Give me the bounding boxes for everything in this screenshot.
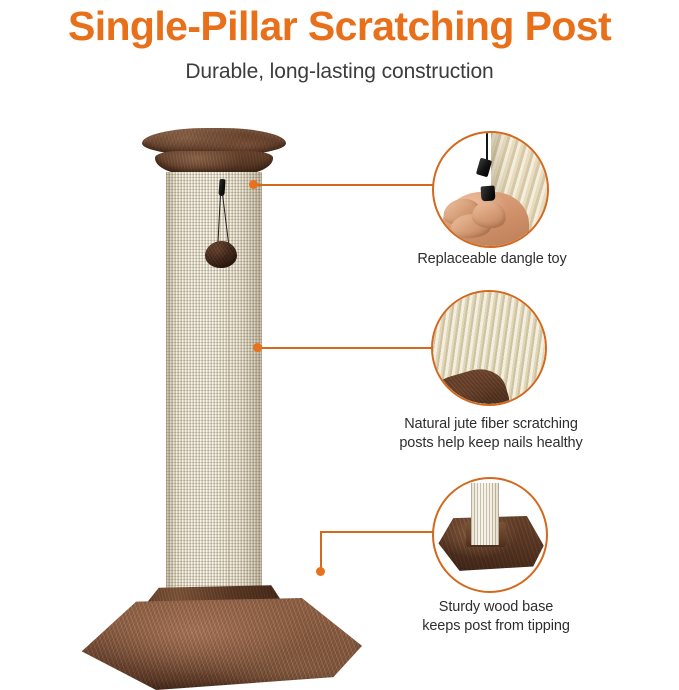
header-block: Single-Pillar Scratching Post Durable, l… [0,0,679,85]
caption-wood-base: Sturdy wood base keeps post from tipping [390,598,602,636]
leader-line-wood-base-vertical [320,531,322,571]
page-title: Single-Pillar Scratching Post [0,1,679,51]
leader-line-wood-base-horizontal [320,531,433,533]
page-subtitle: Durable, long-lasting construction [0,59,679,85]
product-image [60,110,400,635]
dangle-toy-pom [205,241,237,268]
callout-circle-dangle-toy [432,131,549,248]
callout-image-dangle-toy [434,133,547,246]
clip-lower-icon [481,186,496,202]
leader-dot-dangle-toy [249,180,258,189]
leader-line-jute-fiber [257,347,433,349]
caption-dangle-toy: Replaceable dangle toy [392,250,592,269]
callout-circle-jute-fiber [431,290,547,406]
callout-image-jute-fiber [433,292,545,404]
post-section [471,483,499,545]
callout-circle-wood-base [432,477,548,593]
base-board [76,598,362,690]
leader-dot-wood-base [316,567,325,576]
callout-image-wood-base [434,479,546,591]
caption-jute-fiber: Natural jute fiber scratching posts help… [368,415,614,453]
jute-pillar [166,172,262,592]
leader-dot-jute-fiber [253,343,262,352]
leader-line-dangle-toy [253,184,434,186]
